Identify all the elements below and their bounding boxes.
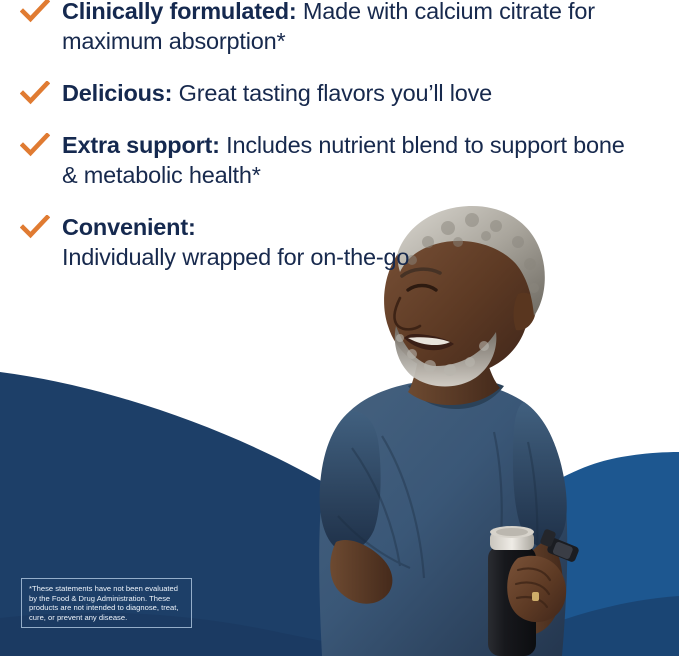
benefit-text: Delicious: Great tasting flavors you’ll … xyxy=(62,78,640,108)
disclaimer-box: *These statements have not been evaluate… xyxy=(21,578,192,628)
benefit-text: Clinically formulated: Made with calcium… xyxy=(62,0,640,56)
product-benefits-panel: Clinically formulated: Made with calcium… xyxy=(0,0,679,656)
benefit-lead: Clinically formulated: xyxy=(62,0,297,24)
benefit-text: Extra support: Includes nutrient blend t… xyxy=(62,130,640,190)
benefit-item-convenient: Convenient:Individually wrapped for on-t… xyxy=(0,212,640,272)
check-icon xyxy=(20,0,52,23)
benefit-lead: Delicious: xyxy=(62,80,172,106)
disclaimer-text: *These statements have not been evaluate… xyxy=(29,584,185,622)
benefit-lead: Extra support: xyxy=(62,132,220,158)
check-icon xyxy=(20,78,52,105)
benefits-list: Clinically formulated: Made with calcium… xyxy=(0,0,640,272)
benefit-text: Convenient:Individually wrapped for on-t… xyxy=(62,212,640,272)
check-icon xyxy=(20,130,52,157)
benefit-lead: Convenient: xyxy=(62,212,640,242)
check-icon xyxy=(20,212,52,239)
benefit-item-clinically-formulated: Clinically formulated: Made with calcium… xyxy=(0,0,640,56)
benefit-rest: Great tasting flavors you’ll love xyxy=(172,80,492,106)
benefit-rest: Individually wrapped for on-the-go xyxy=(62,244,409,270)
benefit-item-extra-support: Extra support: Includes nutrient blend t… xyxy=(0,130,640,190)
benefit-item-delicious: Delicious: Great tasting flavors you’ll … xyxy=(0,78,640,108)
